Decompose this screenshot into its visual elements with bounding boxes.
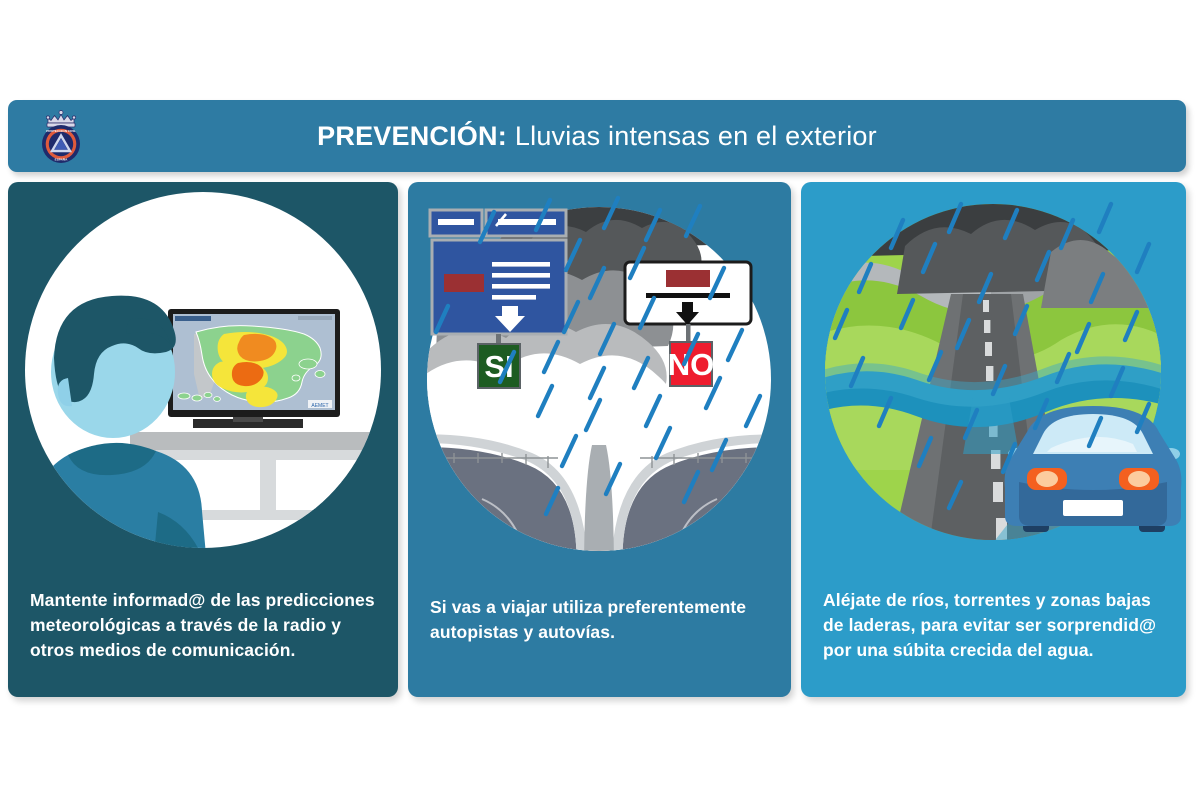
header-bar: PROTECCION CIVIL ESPAÑA PREVENCIÓN: Lluv…: [8, 100, 1186, 172]
illustration-person-watching-weather-tv: AEMET: [8, 182, 398, 577]
illustration-motorway-vs-secondary-road: SI NO: [408, 182, 791, 577]
panel-avoid-rivers[interactable]: Aléjate de ríos, torrentes y zonas bajas…: [801, 182, 1186, 697]
panel-3-caption: Aléjate de ríos, torrentes y zonas bajas…: [801, 588, 1186, 663]
panel-stay-informed[interactable]: AEMET: [8, 182, 398, 697]
svg-text:AEMET: AEMET: [311, 403, 328, 409]
panel-2-caption: Si vas a viajar utiliza preferentemente …: [408, 595, 791, 645]
header-title-strong: PREVENCIÓN:: [317, 121, 507, 152]
header-title: PREVENCIÓN: Lluvias intensas en el exter…: [8, 100, 1186, 172]
header-title-light: Lluvias intensas en el exterior: [515, 121, 877, 152]
illustration-car-flooded-road: [801, 182, 1186, 577]
panel-1-caption: Mantente informad@ de las predicciones m…: [8, 588, 398, 663]
infographic-root: PROTECCION CIVIL ESPAÑA PREVENCIÓN: Lluv…: [0, 0, 1200, 800]
panel-use-motorways[interactable]: SI NO: [408, 182, 791, 697]
